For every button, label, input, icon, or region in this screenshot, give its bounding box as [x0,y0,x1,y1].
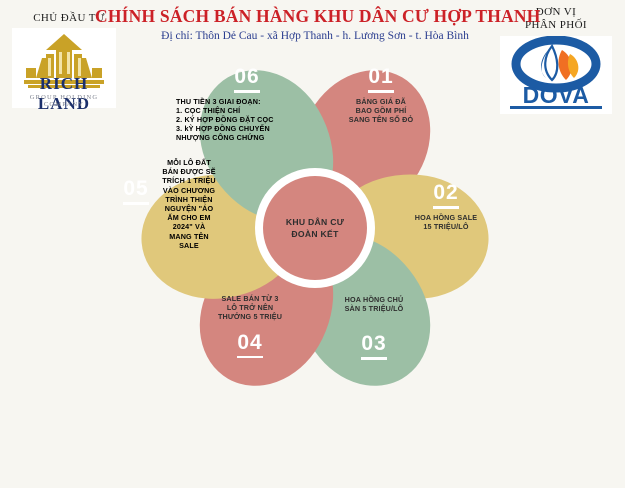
center-circle[interactable]: KHU DÂN CƯ ĐOÀN KẾT [263,176,367,280]
policy-flower-diagram: 01 BẢNG GIÁ ĐÃ BAO GỒM PHÍ SANG TÊN SỔ Đ… [110,50,520,410]
investor-logo-tagline: GROUP HOLDING COMPANY [12,94,116,108]
investor-logo: RICH LAND GROUP HOLDING COMPANY [12,28,116,108]
dova-underline [510,106,602,109]
center-label: KHU DÂN CƯ ĐOÀN KẾT [286,216,344,240]
